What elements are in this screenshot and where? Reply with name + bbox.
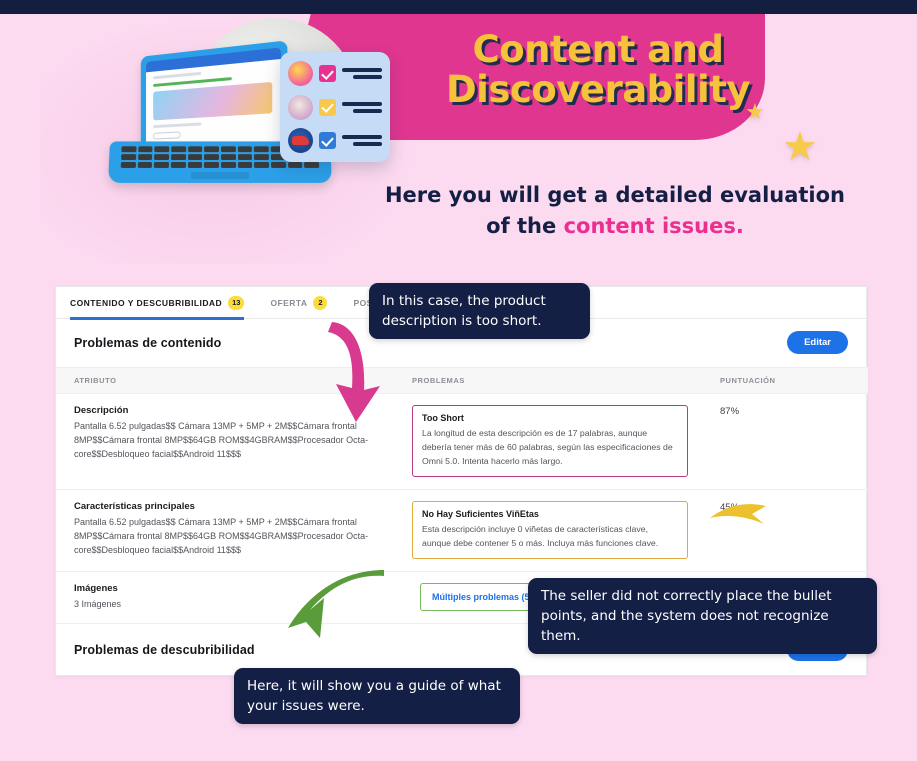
hero-title: Content and Discoverability [388, 30, 808, 110]
issue-title: Too Short [422, 413, 678, 423]
attribute-name: Descripción [74, 405, 380, 416]
issue-box-too-short: Too Short La longitud de esta descripció… [412, 405, 688, 477]
product-thumbnail-icon [288, 61, 313, 86]
row-attribute-cell: Características principales Pantalla 6.5… [56, 490, 394, 572]
score-value: 45% [720, 501, 854, 513]
attribute-description: Pantalla 6.52 pulgadas$$ Cámara 13MP + 5… [74, 515, 380, 557]
tab-badge: 2 [313, 296, 327, 310]
hero-title-line2: Discoverability [388, 70, 808, 110]
content-section-title: Problemas de contenido [74, 336, 221, 350]
issue-text: La longitud de esta descripción es de 17… [422, 426, 678, 468]
checklist-card-illustration [280, 52, 390, 162]
row-problem-cell: No Hay Suficientes ViñEtas Esta descripc… [394, 490, 702, 572]
text-placeholder-bars [342, 102, 382, 113]
attribute-name: Características principales [74, 501, 380, 512]
checklist-row [288, 95, 382, 120]
hero-subtitle-line1: Here you will get a detailed evaluation [385, 183, 845, 207]
hero-subtitle-prefix: of the [486, 214, 563, 238]
row-problem-cell: Too Short La longitud de esta descripció… [394, 394, 702, 490]
product-thumbnail-icon [288, 128, 313, 153]
text-placeholder-bars [342, 135, 382, 146]
multiple-problems-badge[interactable]: Múltiples problemas (5) [420, 583, 545, 611]
screen-mock-navbar [146, 47, 281, 72]
column-header-puntuacion: PUNTUACIÓN [702, 368, 868, 394]
checkmark-icon [319, 99, 336, 116]
hero-subtitle: Here you will get a detailed evaluation … [330, 180, 900, 242]
callout-top: In this case, the product description is… [369, 283, 590, 339]
issue-title: No Hay Suficientes ViñEtas [422, 509, 678, 519]
attribute-description: Pantalla 6.52 pulgadas$$ Cámara 13MP + 5… [74, 419, 380, 461]
tab-label: OFERTA [270, 298, 307, 308]
issue-text: Esta descripción incluye 0 viñetas de ca… [422, 522, 678, 550]
checklist-row [288, 128, 382, 153]
row-attribute-cell: Descripción Pantalla 6.52 pulgadas$$ Cám… [56, 394, 394, 490]
column-header-problemas: PROBLEMAS [394, 368, 702, 394]
star-icon: ★ [782, 124, 818, 170]
screen-mock-image [153, 82, 272, 121]
hero-banner: Content and Discoverability ★ ★ Here you… [0, 14, 917, 272]
tab-badge: 13 [228, 296, 244, 310]
top-navy-bar [0, 0, 917, 14]
table-row: Descripción Pantalla 6.52 pulgadas$$ Cám… [56, 394, 868, 490]
row-score-cell: 45% [702, 490, 868, 572]
table-header-row: ATRIBUTO PROBLEMAS PUNTUACIÓN [56, 368, 868, 394]
callout-bottom: Here, it will show you a guide of what y… [234, 668, 520, 724]
tab-oferta[interactable]: OFERTA 2 [270, 287, 327, 319]
laptop-trackpad [191, 172, 249, 179]
tab-label: CONTENIDO Y DESCUBRIBILIDAD [70, 298, 222, 308]
screen-mock-button [153, 131, 180, 139]
checklist-row [288, 61, 382, 86]
discoverability-section-title: Problemas de descubribilidad [74, 643, 255, 657]
column-header-atributo: ATRIBUTO [56, 368, 394, 394]
laptop-lid [141, 40, 288, 156]
callout-right: The seller did not correctly place the b… [528, 578, 877, 654]
hero-title-line1: Content and [473, 28, 724, 71]
score-value: 87% [720, 405, 854, 417]
row-score-cell: 87% [702, 394, 868, 490]
screen-mock-line [153, 122, 202, 128]
checkmark-icon [319, 65, 336, 82]
hero-subtitle-highlight: content issues. [564, 214, 744, 238]
laptop-illustration [105, 49, 355, 184]
text-placeholder-bars [342, 68, 382, 79]
row-attribute-cell: Imágenes 3 Imágenes [56, 572, 394, 624]
checkmark-icon [319, 132, 336, 149]
edit-content-button[interactable]: Editar [787, 331, 848, 354]
screen-mock-line [153, 72, 202, 79]
table-row: Características principales Pantalla 6.5… [56, 490, 868, 572]
tab-contenido-y-descubribilidad[interactable]: CONTENIDO Y DESCUBRIBILIDAD 13 [70, 287, 244, 319]
issue-box-no-bullets: No Hay Suficientes ViñEtas Esta descripc… [412, 501, 688, 559]
attribute-name: Imágenes [74, 583, 380, 594]
attribute-description: 3 Imágenes [74, 597, 380, 611]
product-thumbnail-icon [288, 95, 313, 120]
laptop-screen [146, 47, 281, 150]
